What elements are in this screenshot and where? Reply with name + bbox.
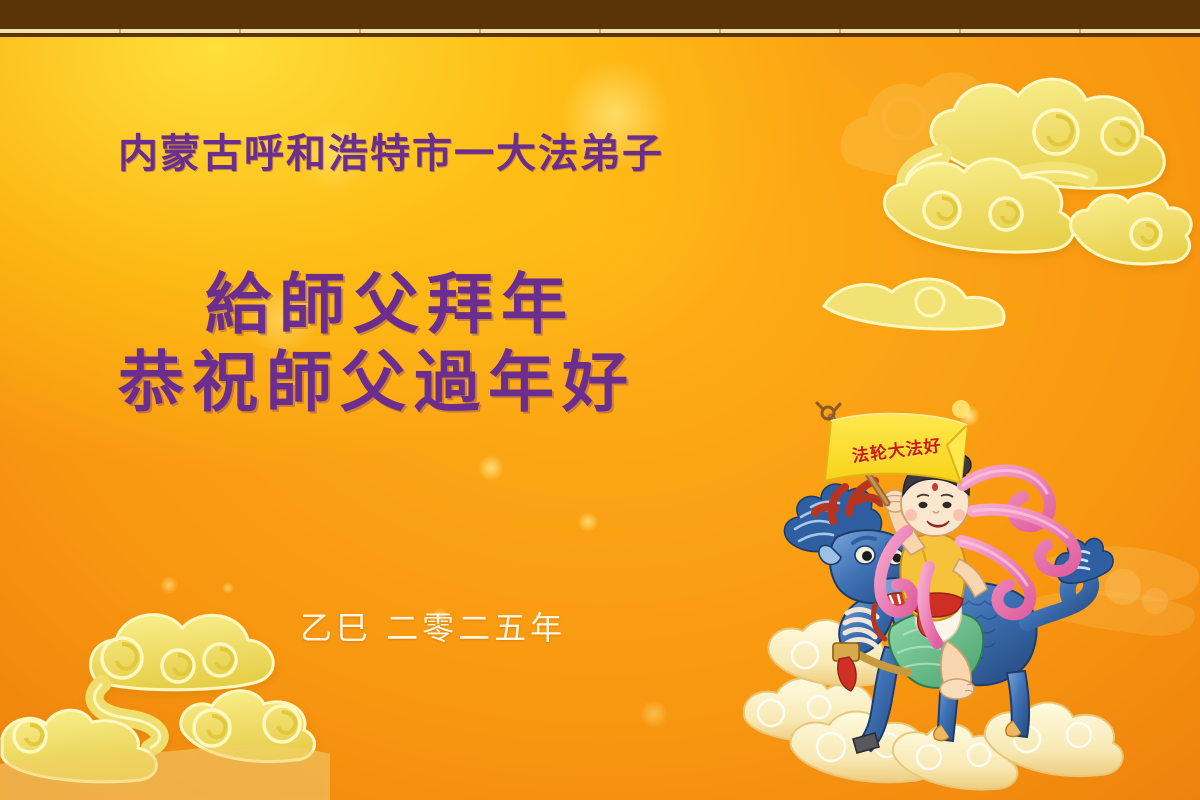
child-riding-dragon-illustration — [735, 395, 1200, 800]
page-title: 内蒙古呼和浩特市一大法弟子 — [118, 134, 664, 174]
bokeh-dot — [160, 576, 178, 594]
greeting-line-1: 給師父拜年 — [205, 272, 575, 338]
top-meander-border — [0, 0, 1200, 37]
cloud-decoration-ghost — [826, 44, 1086, 194]
bokeh-dot — [478, 455, 504, 481]
bokeh-dot — [222, 582, 234, 594]
greeting-line-2: 恭祝師父過年好 — [118, 350, 636, 416]
bokeh-dot — [196, 718, 210, 732]
bokeh-dot — [578, 512, 598, 532]
date-text: 乙巳 二零二五年 — [300, 612, 566, 644]
cloud-decoration-top-right — [880, 58, 1200, 328]
cloud-decoration-wisp — [818, 244, 1018, 334]
new-year-greeting-card: 内蒙古呼和浩特市一大法弟子 給師父拜年 恭祝師父過年好 乙巳 二零二五年 — [0, 0, 1200, 800]
bokeh-dot — [640, 700, 668, 728]
cloud-decoration-bottom-left — [0, 588, 330, 800]
